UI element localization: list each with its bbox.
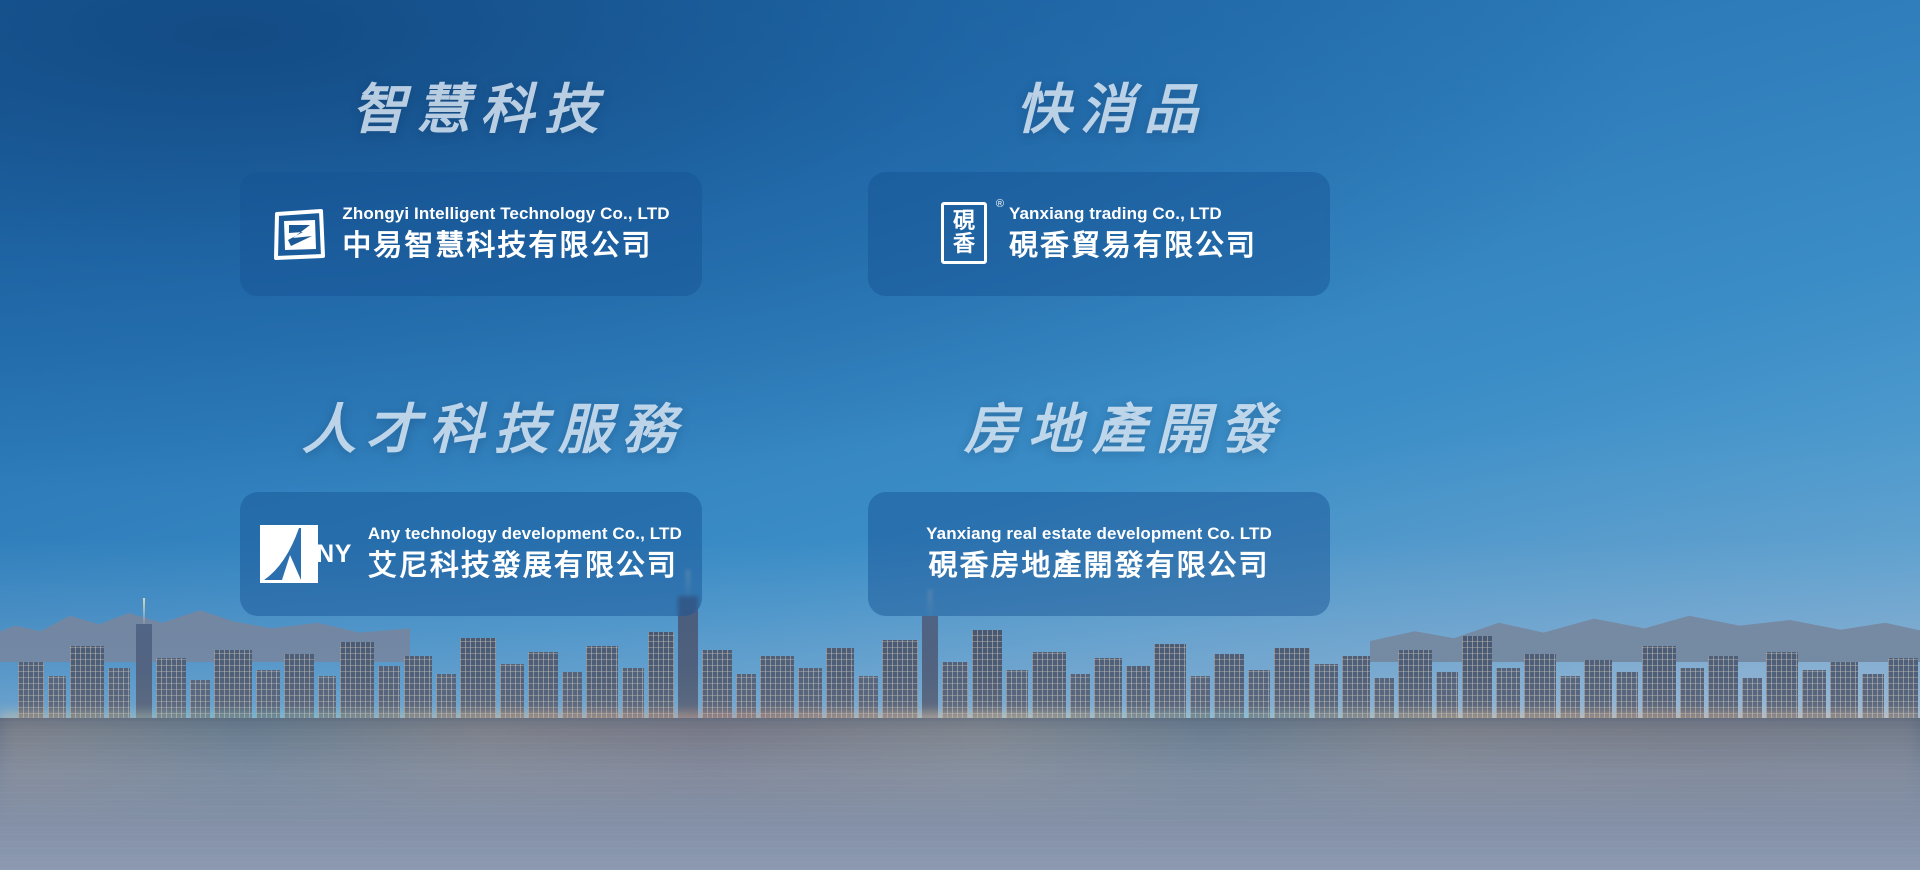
section-title-smart-technology: 智慧科技	[240, 78, 702, 142]
company-card-zhongyi[interactable]: Zhongyi Intelligent Technology Co., LTD …	[240, 172, 702, 296]
seal-char-bottom: 香	[953, 234, 975, 256]
company-name-en: Yanxiang real estate development Co. LTD	[926, 523, 1272, 546]
company-names-zhongyi: Zhongyi Intelligent Technology Co., LTD …	[342, 203, 669, 264]
company-name-cn: 艾尼科技發展有限公司	[368, 546, 682, 584]
company-name-cn: 硯香房地產開發有限公司	[928, 546, 1269, 584]
section-smart-technology: 智慧科技 Zhongyi Intelligent Technology Co.,…	[240, 78, 702, 296]
any-wordmark: NY	[316, 542, 352, 567]
section-title-talent-services: 人才科技服務	[240, 398, 702, 462]
company-name-cn: 中易智慧科技有限公司	[342, 226, 669, 264]
any-mountain-icon: NY	[260, 525, 352, 583]
registered-trademark-icon: ®	[996, 199, 1004, 210]
section-title-fmcg: 快消品	[868, 78, 1330, 142]
company-names-yanxiang-real-estate: Yanxiang real estate development Co. LTD…	[926, 523, 1272, 584]
seal-char-top: 硯	[953, 211, 975, 233]
company-card-any[interactable]: NY Any technology development Co., LTD 艾…	[240, 492, 702, 616]
company-card-yanxiang-trading[interactable]: 硯 香 ® Yanxiang trading Co., LTD 硯香貿易有限公司	[868, 172, 1330, 296]
company-name-cn: 硯香貿易有限公司	[1009, 226, 1257, 264]
company-names-yanxiang-trading: Yanxiang trading Co., LTD 硯香貿易有限公司	[1009, 203, 1257, 264]
section-real-estate: 房地產開發 Yanxiang real estate development C…	[868, 398, 1330, 616]
company-names-any: Any technology development Co., LTD 艾尼科技…	[368, 523, 682, 584]
section-title-real-estate: 房地產開發	[868, 398, 1330, 462]
company-name-en: Zhongyi Intelligent Technology Co., LTD	[342, 203, 669, 226]
zhongyi-z-stamp-icon	[272, 207, 326, 261]
company-card-yanxiang-real-estate[interactable]: Yanxiang real estate development Co. LTD…	[868, 492, 1330, 616]
company-name-en: Any technology development Co., LTD	[368, 523, 682, 546]
section-talent-services: 人才科技服務 NY Any technology development Co.…	[240, 398, 702, 616]
company-name-en: Yanxiang trading Co., LTD	[1009, 203, 1257, 226]
yanxiang-seal-icon: 硯 香 ®	[941, 202, 993, 266]
section-fmcg: 快消品 硯 香 ® Yanxiang trading Co., LTD 硯香貿易…	[868, 78, 1330, 296]
